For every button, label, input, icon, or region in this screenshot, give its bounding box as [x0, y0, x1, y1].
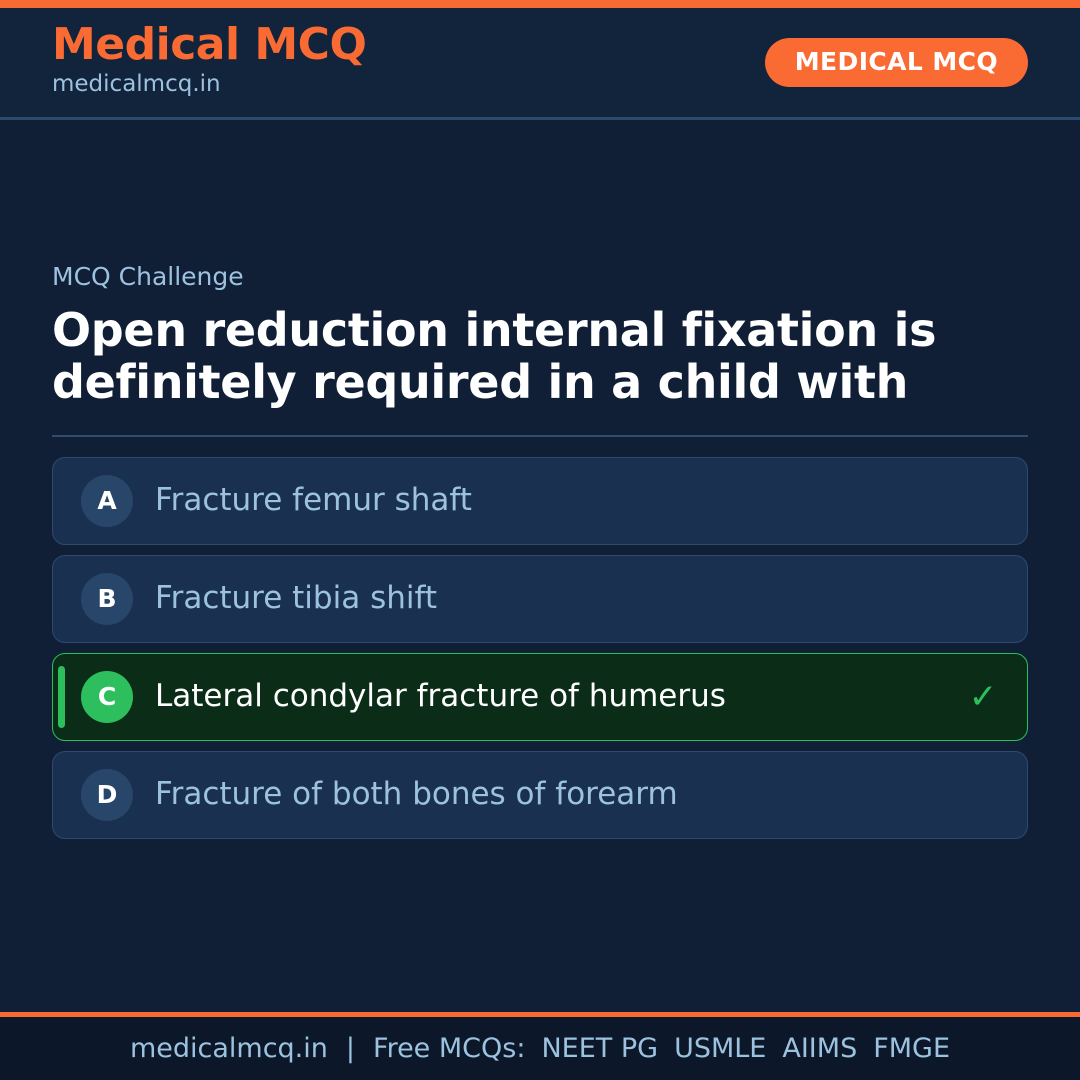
brand-subtitle: medicalmcq.in — [52, 70, 366, 99]
main-content: MCQ Challenge Open reduction internal fi… — [0, 120, 1080, 1012]
question-divider — [52, 435, 1028, 437]
header-badge: MEDICAL MCQ — [765, 38, 1028, 87]
footer-separator: | — [328, 1035, 373, 1062]
header: Medical MCQ medicalmcq.in MEDICAL MCQ — [0, 8, 1080, 120]
option-b[interactable]: B Fracture tibia shift — [52, 555, 1028, 643]
footer-exam-fmge: FMGE — [873, 1035, 950, 1062]
footer-exam-neetpg: NEET PG — [541, 1035, 658, 1062]
footer-exam-usmle: USMLE — [674, 1035, 766, 1062]
option-b-letter: B — [81, 573, 133, 625]
option-d-letter: D — [81, 769, 133, 821]
option-a-letter: A — [81, 475, 133, 527]
mcq-card: Medical MCQ medicalmcq.in MEDICAL MCQ MC… — [0, 0, 1080, 1080]
footer-exam-aiims: AIIMS — [782, 1035, 857, 1062]
option-c[interactable]: C Lateral condylar fracture of humerus ✓ — [52, 653, 1028, 741]
option-d-text: Fracture of both bones of forearm — [155, 776, 963, 813]
top-accent-bar — [0, 0, 1080, 8]
question-text: Open reduction internal fixation is defi… — [52, 304, 1012, 409]
options-list: A Fracture femur shaft B Fracture tibia … — [52, 457, 1028, 839]
option-c-text: Lateral condylar fracture of humerus — [155, 678, 963, 715]
brand-title: Medical MCQ — [52, 22, 366, 69]
footer: medicalmcq.in | Free MCQs: NEET PG USMLE… — [0, 1017, 1080, 1080]
option-d[interactable]: D Fracture of both bones of forearm — [52, 751, 1028, 839]
correct-accent-bar — [58, 666, 65, 728]
brand-block: Medical MCQ medicalmcq.in — [52, 22, 366, 99]
option-a[interactable]: A Fracture femur shaft — [52, 457, 1028, 545]
footer-exam-list: NEET PG USMLE AIIMS FMGE — [541, 1035, 950, 1062]
eyebrow-label: MCQ Challenge — [52, 262, 1028, 292]
footer-label: Free MCQs: — [373, 1035, 525, 1062]
option-c-letter: C — [81, 671, 133, 723]
option-a-text: Fracture femur shaft — [155, 482, 963, 519]
question-block: MCQ Challenge Open reduction internal fi… — [52, 262, 1028, 409]
option-c-check-icon: ✓ — [963, 680, 1003, 714]
footer-site[interactable]: medicalmcq.in — [130, 1035, 328, 1062]
option-b-text: Fracture tibia shift — [155, 580, 963, 617]
